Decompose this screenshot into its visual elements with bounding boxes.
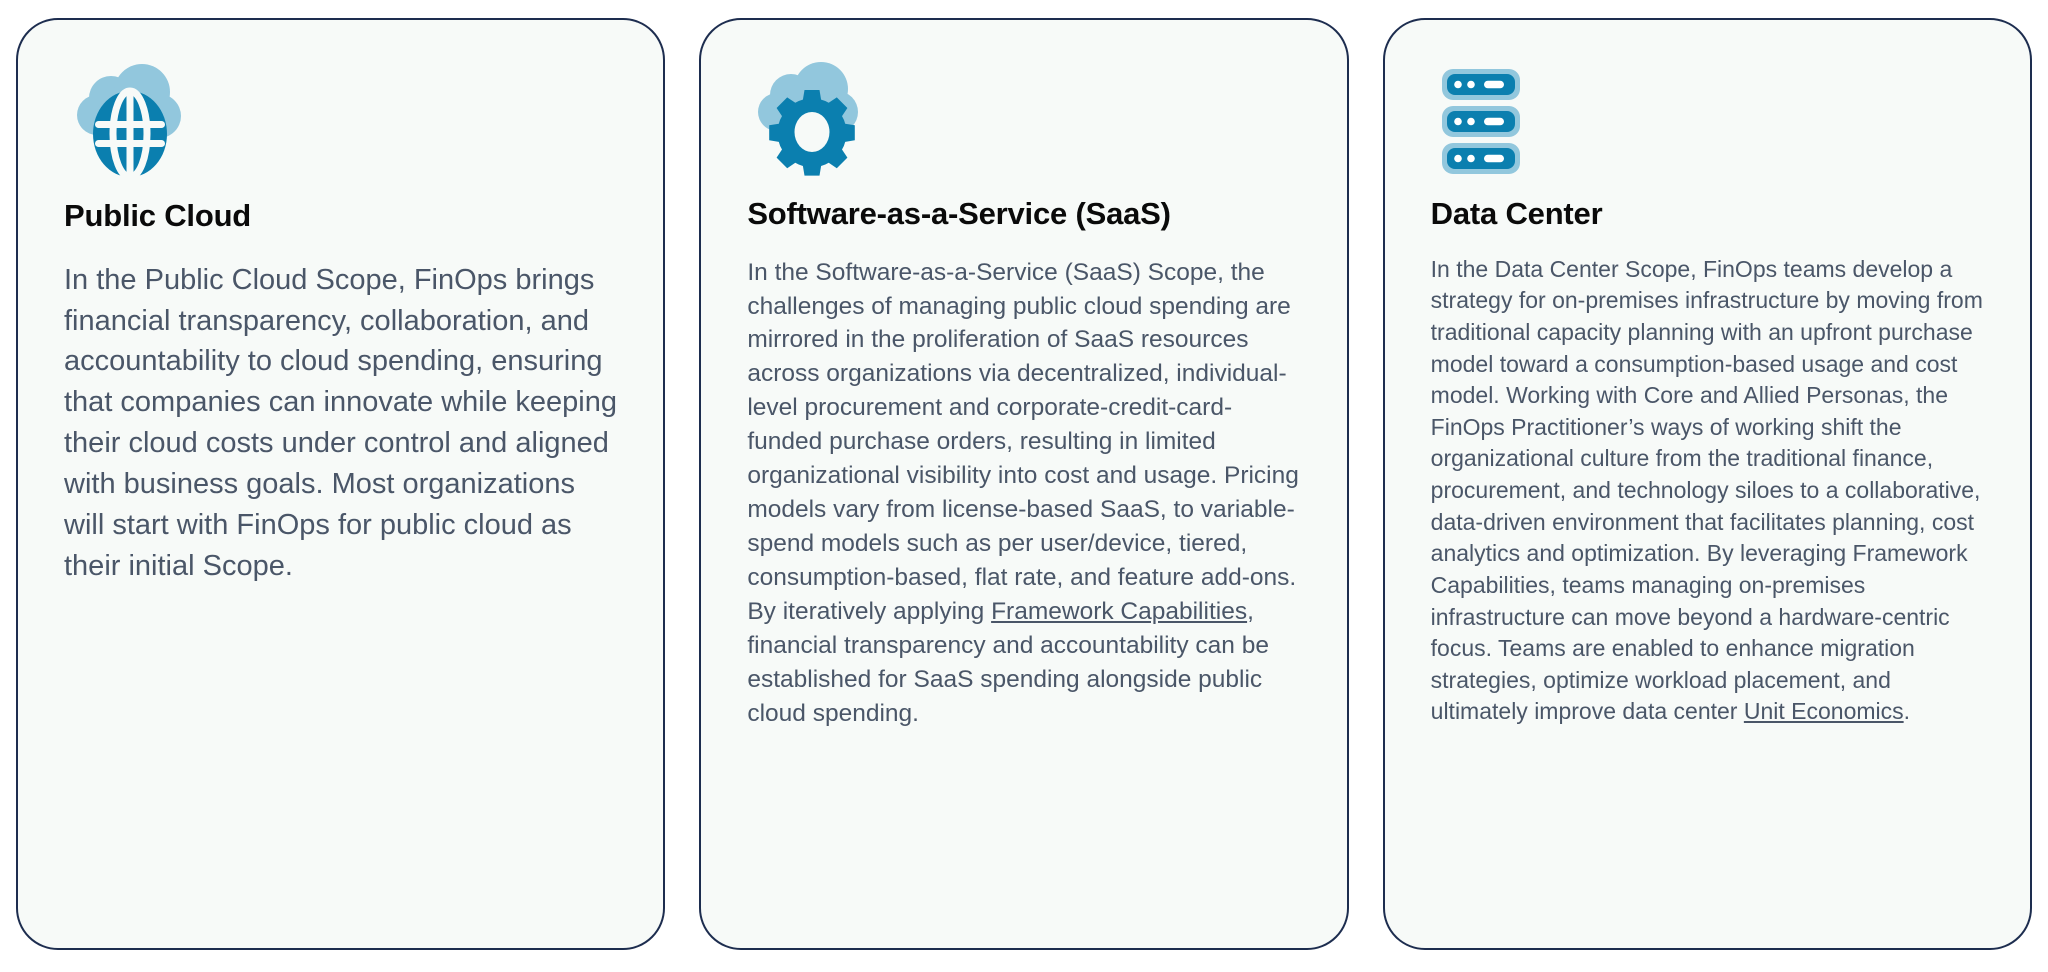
framework-capabilities-link[interactable]: Framework Capabilities bbox=[991, 598, 1247, 625]
body-text-segment: . bbox=[1904, 698, 1910, 724]
card-title: Public Cloud bbox=[64, 198, 617, 234]
cloud-gear-icon bbox=[747, 62, 879, 182]
body-text-segment: In the Data Center Scope, FinOps teams d… bbox=[1431, 256, 1983, 725]
card-saas: Software-as-a-Service (SaaS) In the Soft… bbox=[699, 18, 1348, 950]
body-text-segment: In the Software-as-a-Service (SaaS) Scop… bbox=[747, 259, 1299, 625]
scopes-card-row: Public Cloud In the Public Cloud Scope, … bbox=[0, 0, 2048, 972]
card-body: In the Software-as-a-Service (SaaS) Scop… bbox=[747, 256, 1300, 731]
unit-economics-link[interactable]: Unit Economics bbox=[1744, 698, 1904, 724]
cloud-globe-icon bbox=[64, 62, 196, 184]
card-data-center: Data Center In the Data Center Scope, Fi… bbox=[1383, 18, 2032, 950]
card-title: Software-as-a-Service (SaaS) bbox=[747, 196, 1300, 232]
card-body: In the Data Center Scope, FinOps teams d… bbox=[1431, 254, 1984, 728]
card-public-cloud: Public Cloud In the Public Cloud Scope, … bbox=[16, 18, 665, 950]
card-body: In the Public Cloud Scope, FinOps brings… bbox=[64, 260, 617, 587]
server-rack-icon bbox=[1431, 62, 1535, 180]
card-title: Data Center bbox=[1431, 196, 1984, 232]
body-text-segment: In the Public Cloud Scope, FinOps brings… bbox=[64, 264, 617, 582]
